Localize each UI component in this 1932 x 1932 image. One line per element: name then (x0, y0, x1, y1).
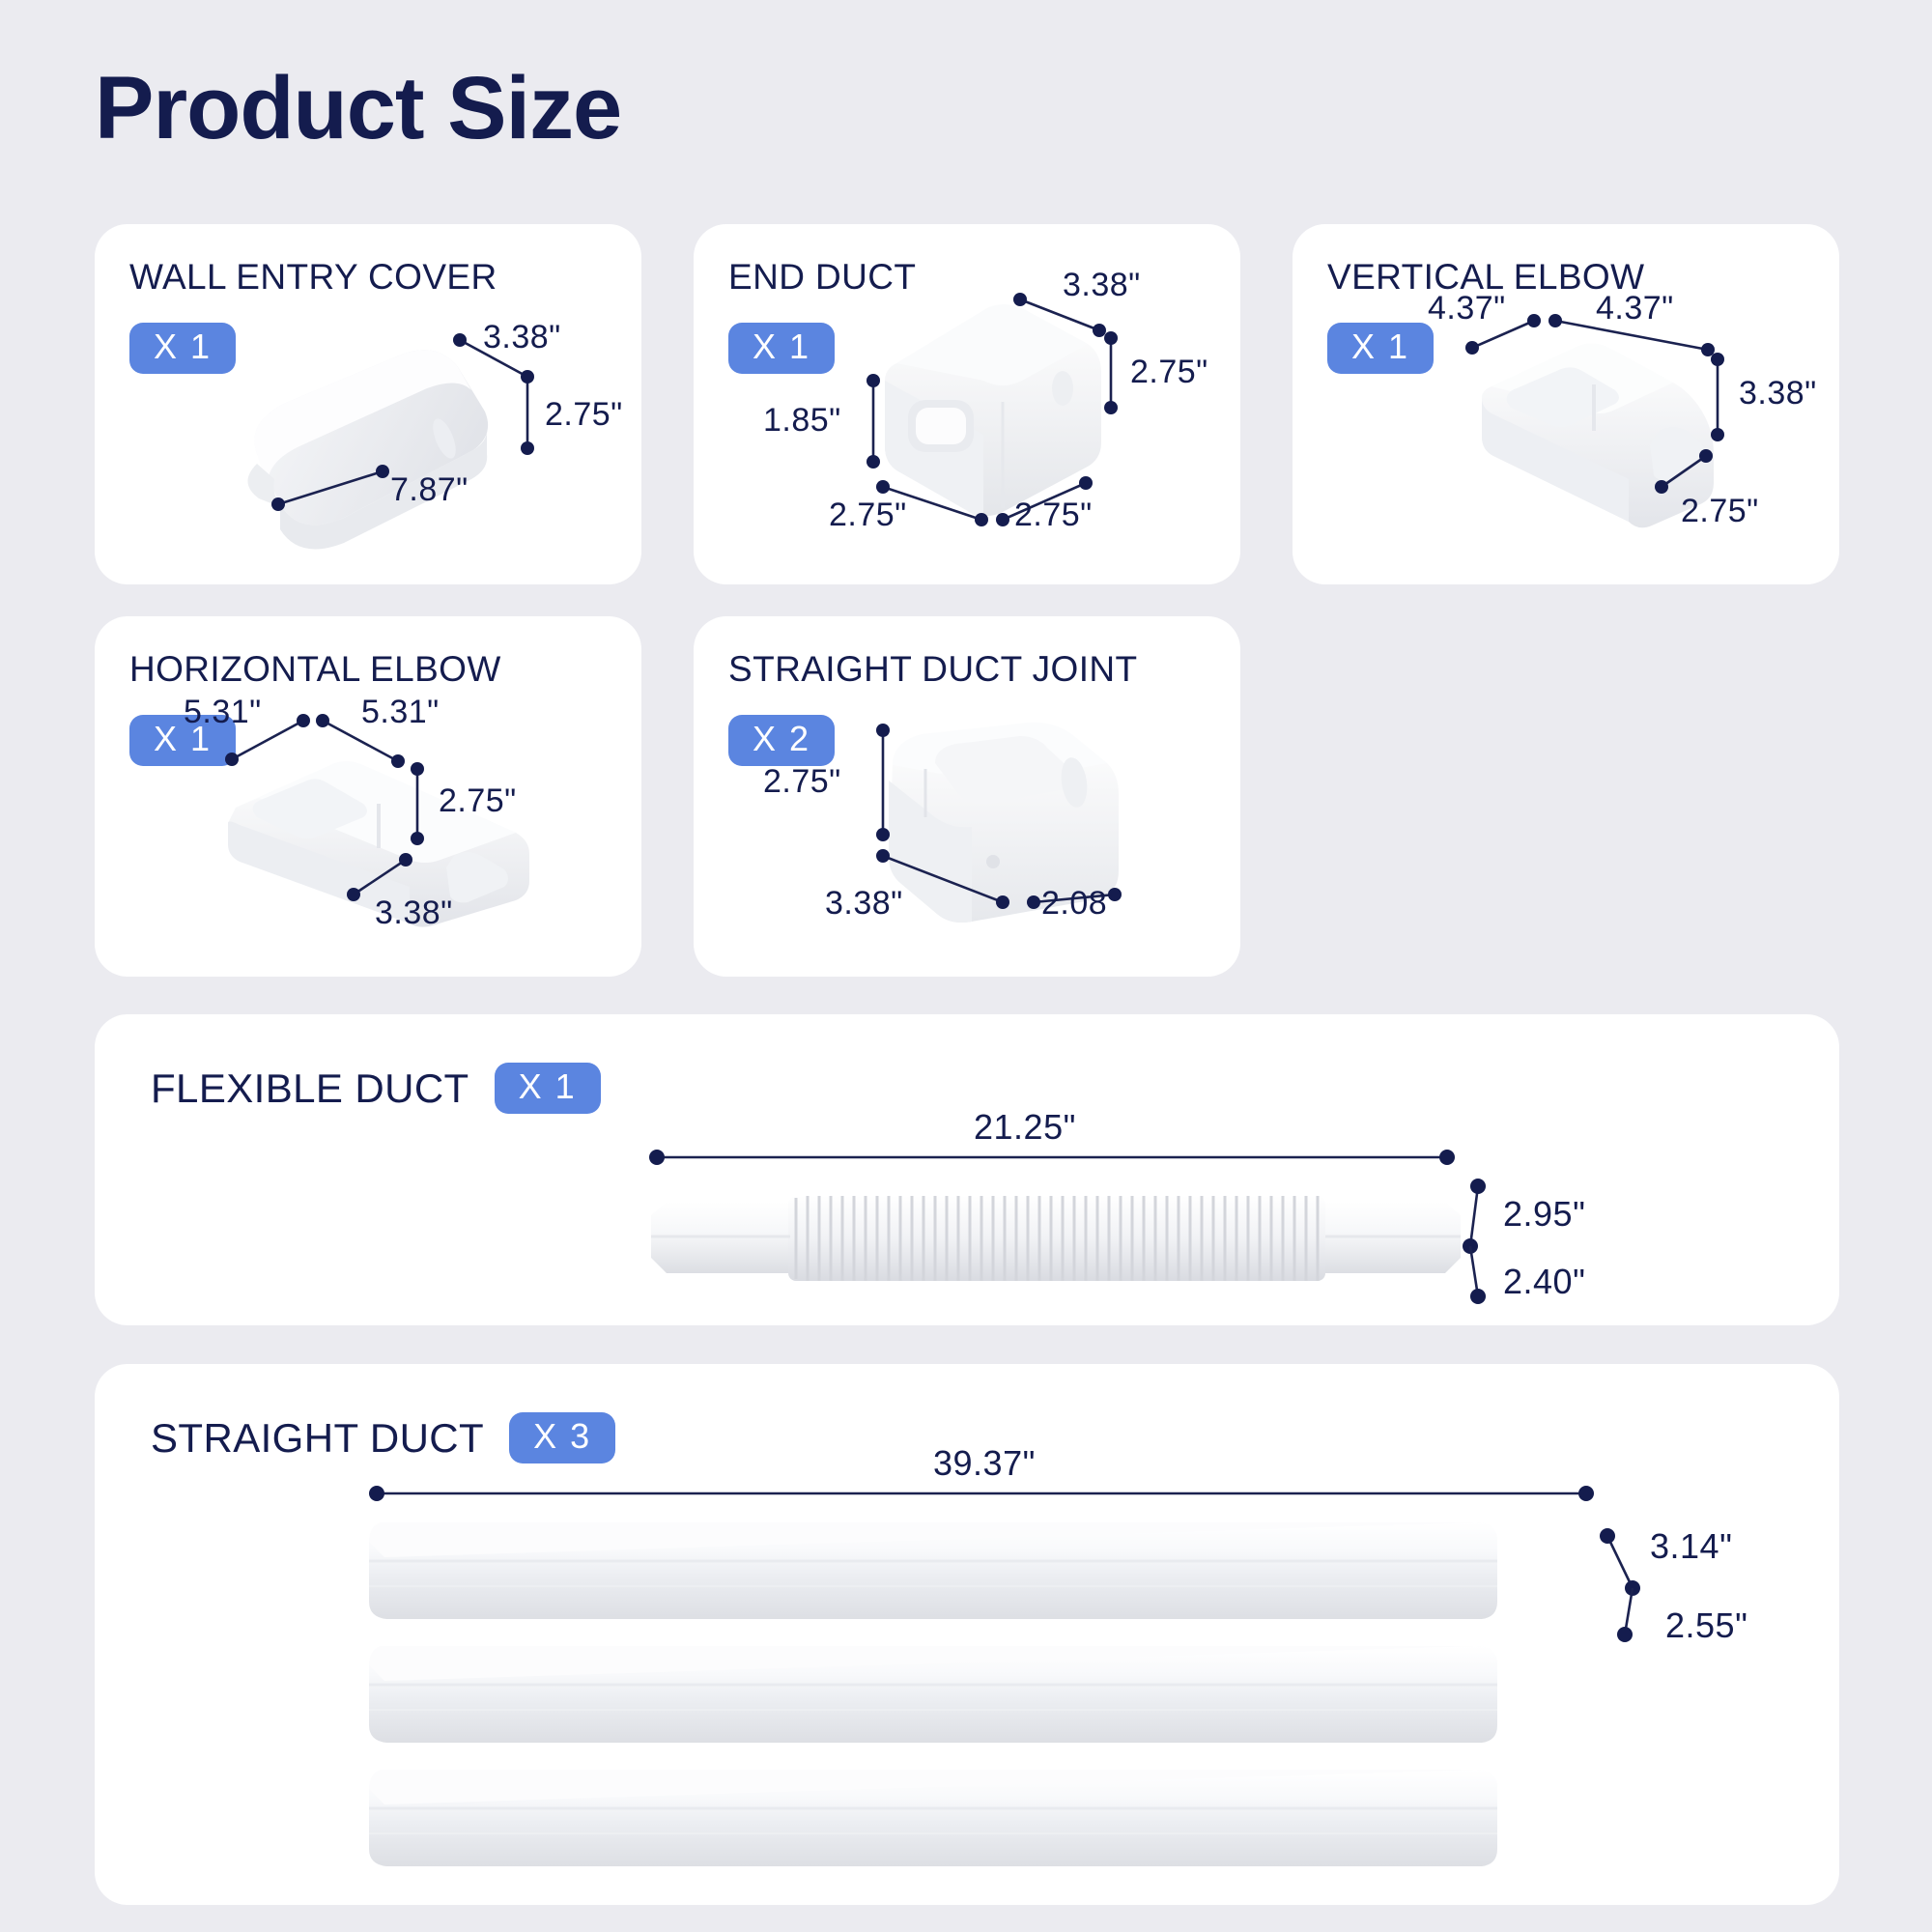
card-header-flexible-duct: FLEXIBLE DUCT X 1 (151, 1063, 601, 1114)
dim-end-duct-2-75-bottom-right: 2.75" (1014, 497, 1093, 534)
product-image-end-duct (858, 288, 1119, 529)
product-image-flexible-duct (645, 1180, 1466, 1296)
dim-straight-duct-joint-3-38: 3.38" (825, 885, 903, 923)
dim-wall-entry-cover-7-87: 7.87" (390, 471, 469, 509)
dim-horizontal-elbow-5-31-left: 5.31" (184, 694, 262, 731)
card-vertical-elbow: VERTICAL ELBOW X 1 (1293, 224, 1839, 584)
card-header-straight-duct-joint: STRAIGHT DUCT JOINT (728, 649, 1138, 690)
dim-vertical-elbow-3-38: 3.38" (1739, 375, 1817, 412)
product-image-straight-duct-3 (346, 1766, 1505, 1872)
card-title-wall-entry-cover: WALL ENTRY COVER (129, 257, 497, 298)
dim-end-duct-1-85: 1.85" (763, 402, 841, 440)
card-end-duct: END DUCT X 1 (694, 224, 1240, 584)
dim-horizontal-elbow-5-31-right: 5.31" (361, 694, 440, 731)
dim-straight-duct-3-14: 3.14" (1650, 1526, 1732, 1567)
qty-badge-end-duct: X 1 (728, 323, 835, 374)
dim-wall-entry-cover-2-75: 2.75" (545, 396, 623, 434)
product-size-infographic: Product Size WALL ENTRY COVER X 1 (0, 0, 1932, 1932)
card-header-straight-duct: STRAIGHT DUCT X 3 (151, 1412, 615, 1463)
page-title: Product Size (95, 64, 621, 153)
qty-badge-flexible-duct: X 1 (495, 1063, 601, 1114)
card-title-straight-duct-joint: STRAIGHT DUCT JOINT (728, 649, 1138, 690)
dim-end-duct-3-38: 3.38" (1063, 267, 1141, 304)
dim-horizontal-elbow-2-75: 2.75" (439, 782, 517, 820)
card-title-horizontal-elbow: HORIZONTAL ELBOW (129, 649, 501, 690)
card-title-straight-duct: STRAIGHT DUCT (151, 1415, 484, 1462)
card-header-horizontal-elbow: HORIZONTAL ELBOW (129, 649, 501, 690)
card-flexible-duct: FLEXIBLE DUCT X 1 (95, 1014, 1839, 1325)
qty-badge-vertical-elbow: X 1 (1327, 323, 1434, 374)
product-image-straight-duct-1 (346, 1519, 1505, 1625)
dim-vertical-elbow-4-37-left: 4.37" (1428, 290, 1506, 327)
dim-flexible-duct-2-95: 2.95" (1503, 1194, 1585, 1235)
card-straight-duct: STRAIGHT DUCT X 3 (95, 1364, 1839, 1905)
dim-straight-duct-39-37: 39.37" (933, 1443, 1036, 1484)
product-image-wall-entry-cover (199, 338, 527, 560)
dim-vertical-elbow-4-37-right: 4.37" (1596, 290, 1674, 327)
dim-wall-entry-cover-3-38: 3.38" (483, 319, 561, 356)
dim-end-duct-2-75-bottom-left: 2.75" (829, 497, 907, 534)
dim-flexible-duct-2-40: 2.40" (1503, 1262, 1585, 1302)
dim-straight-duct-joint-2-08: 2.08" (1041, 885, 1120, 923)
dim-horizontal-elbow-3-38: 3.38" (375, 895, 453, 932)
card-title-flexible-duct: FLEXIBLE DUCT (151, 1065, 469, 1112)
qty-badge-straight-duct-joint: X 2 (728, 715, 835, 766)
card-wall-entry-cover: WALL ENTRY COVER X 1 (95, 224, 641, 584)
dim-end-duct-2-75-right: 2.75" (1130, 354, 1208, 391)
dim-straight-duct-2-55: 2.55" (1665, 1605, 1747, 1646)
card-horizontal-elbow: HORIZONTAL ELBOW X 1 (95, 616, 641, 977)
dim-straight-duct-joint-2-75: 2.75" (763, 763, 841, 801)
dim-flexible-duct-21-25: 21.25" (974, 1107, 1076, 1148)
dim-vertical-elbow-2-75: 2.75" (1681, 493, 1759, 530)
product-image-straight-duct-2 (346, 1642, 1505, 1748)
qty-badge-straight-duct: X 3 (509, 1412, 615, 1463)
card-header-wall-entry-cover: WALL ENTRY COVER (129, 257, 497, 298)
card-straight-duct-joint: STRAIGHT DUCT JOINT X 2 (694, 616, 1240, 977)
